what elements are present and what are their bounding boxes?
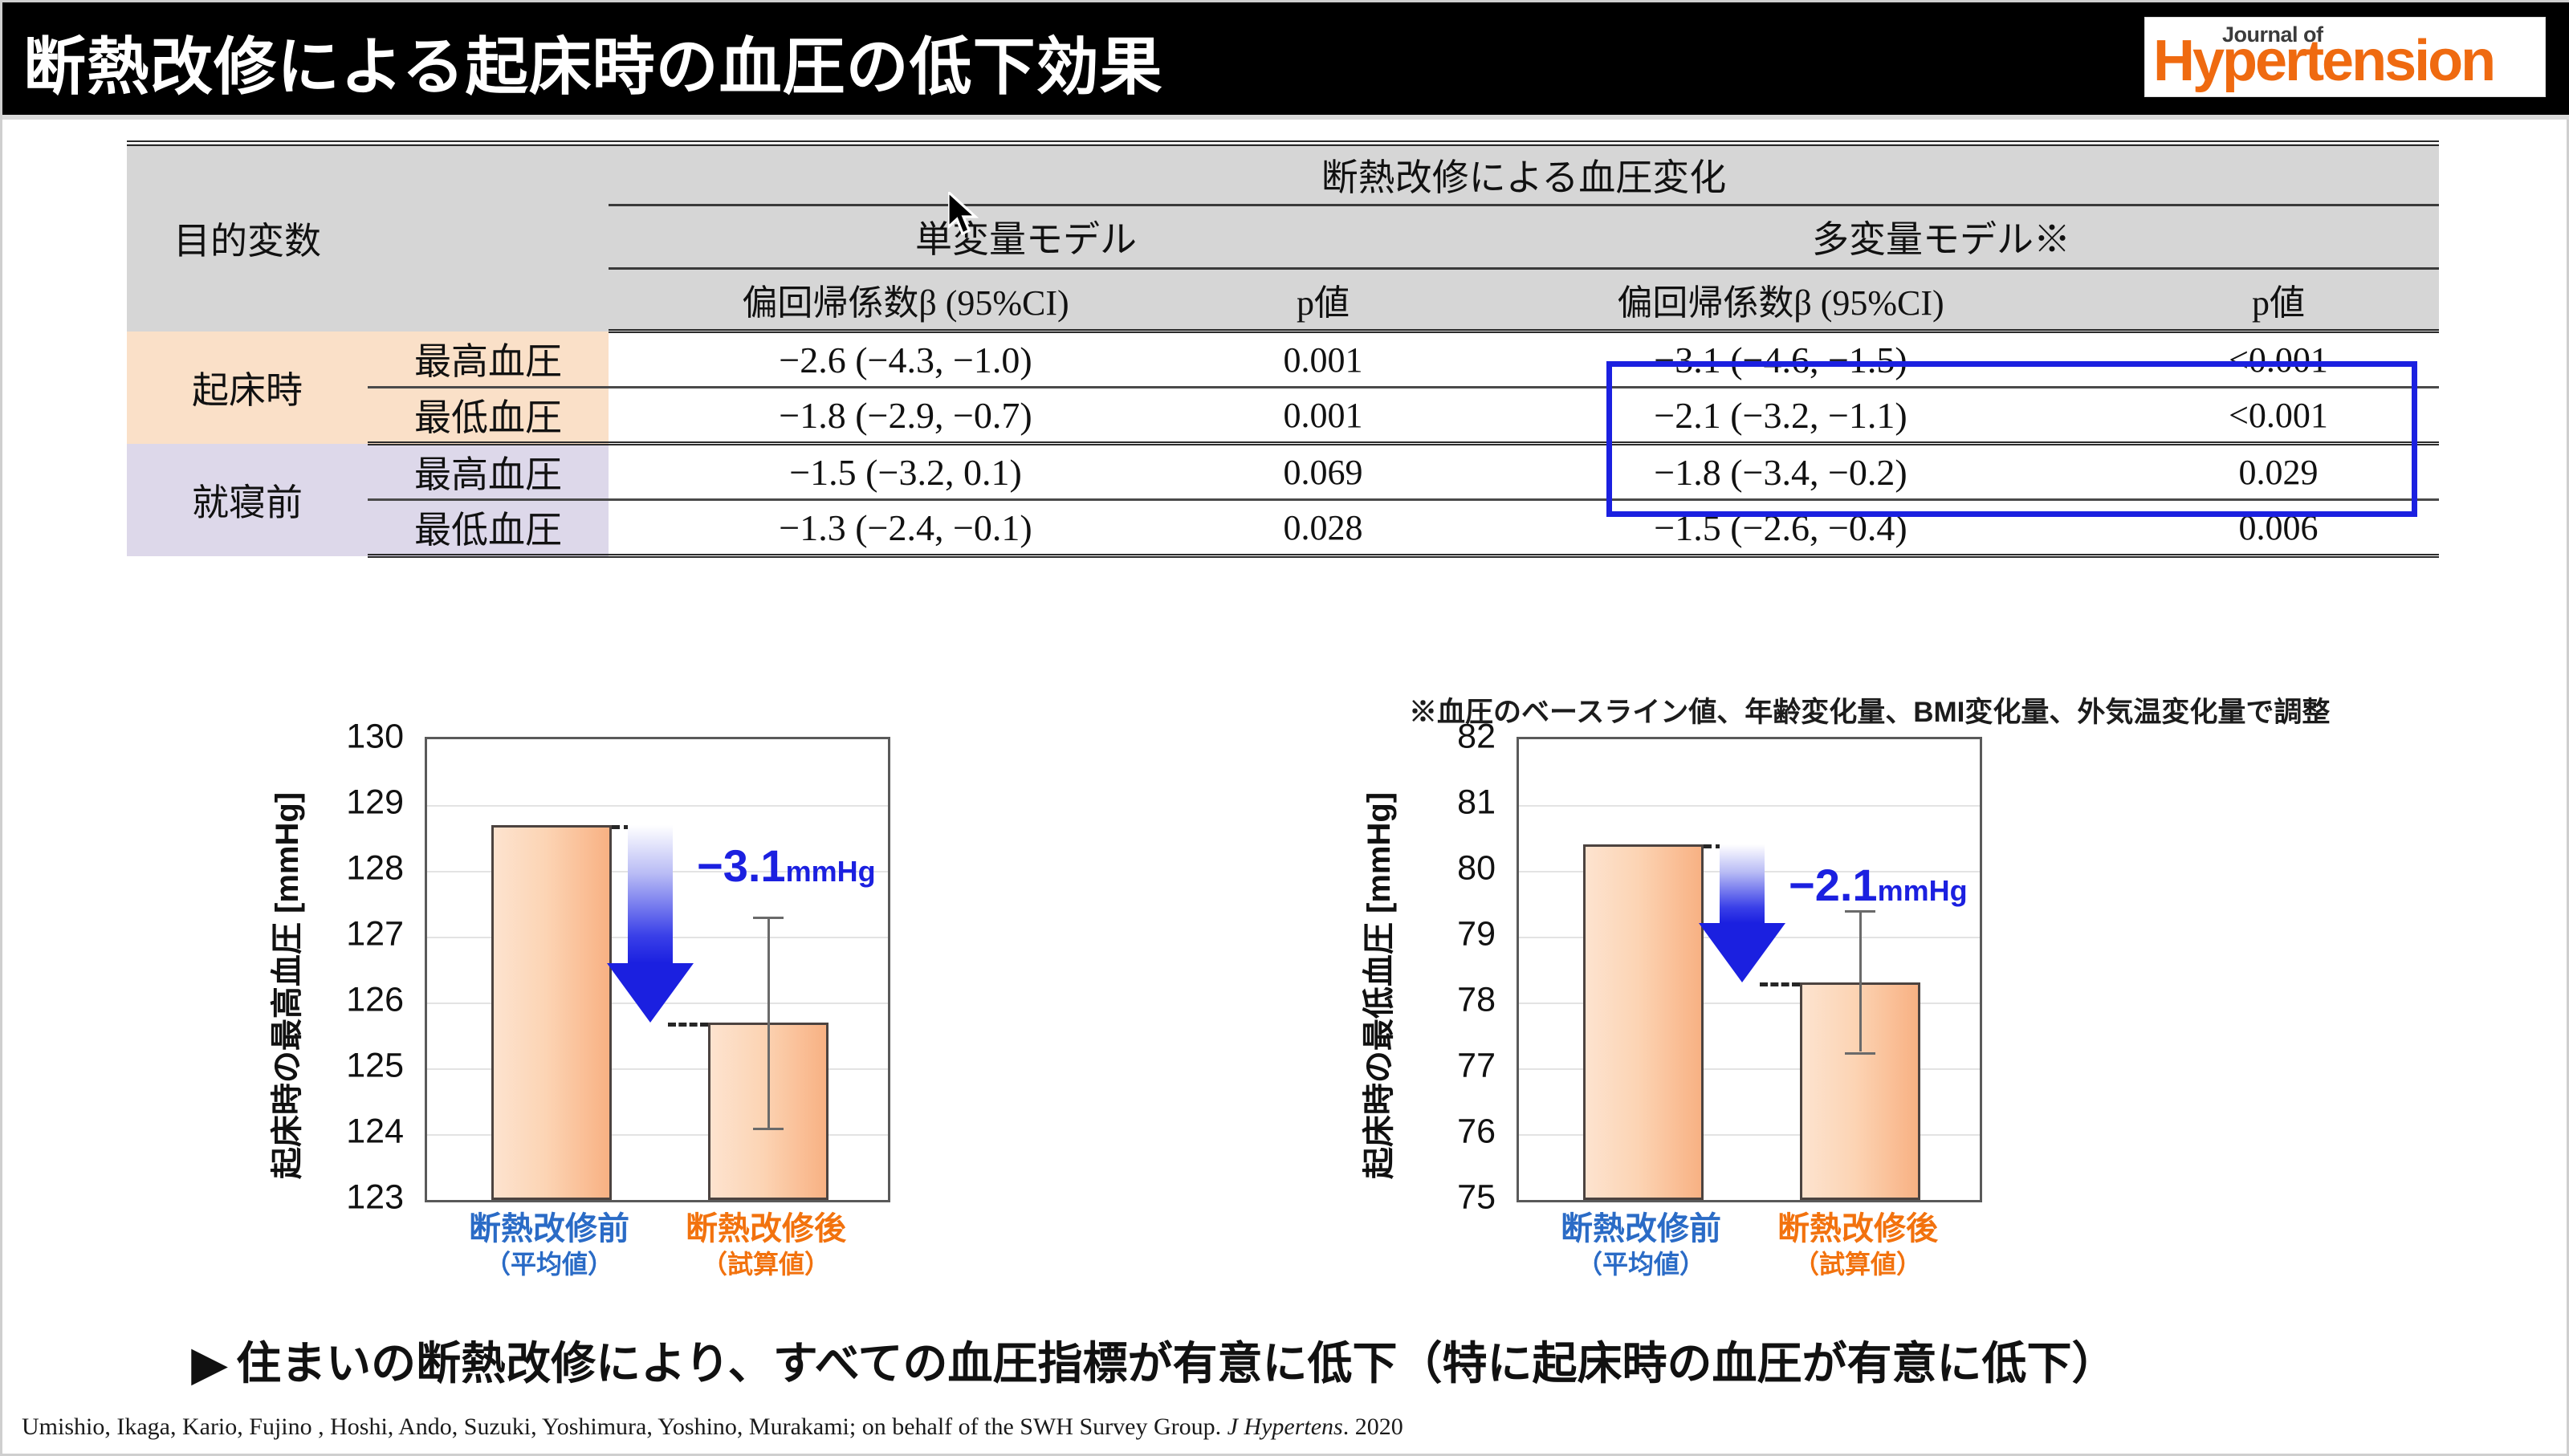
- table-cell-uni-p: 0.001: [1203, 331, 1443, 388]
- table-footnote: ※血圧のベースライン値、年齢変化量、BMI変化量、外気温変化量で調整: [1409, 689, 2330, 730]
- table-col-variable-header: 目的変数: [127, 144, 368, 331]
- chart-systolic-errorbar-cap: [753, 917, 784, 919]
- citation-authors: Umishio, Ikaga, Kario, Fujino , Hoshi, A…: [22, 1413, 1221, 1440]
- chart-diastolic-ylabel: 起床時の最低血圧 [mmHg]: [1353, 761, 1399, 1210]
- chart-diastolic-errorbar-cap: [1845, 1052, 1875, 1055]
- table-cell-uni-coef: −1.5 (−3.2, 0.1): [609, 444, 1203, 500]
- table-cell-multi-p: 0.029: [2118, 444, 2439, 500]
- chart-systolic-ytick: 127: [346, 915, 404, 954]
- table-cell-multi-p: <0.001: [2118, 331, 2439, 388]
- chart-systolic-xaxis: 断熱改修前 （平均値） 断熱改修後 （試算値）: [425, 1210, 890, 1291]
- table-cell-uni-p: 0.001: [1203, 388, 1443, 444]
- arrow-head: [607, 963, 694, 1023]
- chart-diastolic-ytick: 80: [1457, 849, 1496, 889]
- chart-systolic-ylabel: 起床時の最高血圧 [mmHg]: [261, 761, 307, 1210]
- table-subrow-label: 最低血圧: [368, 500, 609, 556]
- arrow-shaft: [628, 825, 673, 963]
- table-subrow-label: 最高血圧: [368, 444, 609, 500]
- chart-diastolic-plot: −2.1mmHg: [1517, 737, 1982, 1202]
- table-row: 最低血圧 −1.3 (−2.4, −0.1) 0.028 −1.5 (−2.6,…: [127, 500, 2439, 556]
- table-cell-uni-coef: −1.3 (−2.4, −0.1): [609, 500, 1203, 556]
- citation-journal: J Hypertens: [1228, 1413, 1343, 1440]
- citation: Umishio, Ikaga, Kario, Fujino , Hoshi, A…: [22, 1413, 1403, 1441]
- delta-unit: mmHg: [786, 855, 876, 888]
- chart-systolic-ytick: 126: [346, 981, 404, 1020]
- table-cell-multi-coef: −1.5 (−2.6, −0.4): [1443, 500, 2118, 556]
- table-cell-multi-coef: −1.8 (−3.4, −0.2): [1443, 444, 2118, 500]
- chart-diastolic-ytick: 77: [1457, 1047, 1496, 1086]
- chart-diastolic-xlabel-after: 断熱改修後 （試算値）: [1737, 1210, 1978, 1281]
- chart-systolic-xlabel-after: 断熱改修後 （試算値）: [645, 1210, 886, 1281]
- chart-systolic-bar: [491, 825, 612, 1200]
- results-table: 目的変数 断熱改修による血圧変化 単変量モデル 多変量モデル※ 偏回帰係数β (…: [127, 140, 2439, 558]
- chart-systolic-xlabel-before: 断熱改修前 （平均値）: [429, 1210, 670, 1281]
- title-underline: [2, 115, 2569, 120]
- chart-systolic-plot: −3.1mmHg: [425, 737, 890, 1202]
- table-p-header-uni: p値: [1203, 269, 1443, 331]
- table-supergroup-header: 断熱改修による血圧変化: [609, 144, 2439, 205]
- chart-diastolic-dashed-after: [1760, 982, 1800, 986]
- table-cell-uni-p: 0.028: [1203, 500, 1443, 556]
- slide-canvas: 断熱改修による起床時の血圧の低下効果 Journal of Hypertensi…: [0, 0, 2569, 1456]
- summary-text: 住まいの断熱改修により、すべての血圧指標が有意に低下（特に起床時の血圧が有意に低…: [236, 1338, 2116, 1389]
- logo-hypertension-text: Hypertension: [2153, 29, 2494, 93]
- chart-systolic-decrease-arrow-icon: [628, 825, 673, 1023]
- journal-logo: Journal of Hypertension: [2144, 17, 2546, 97]
- chart-diastolic-yaxis: 7576777879808182: [1407, 729, 1502, 1210]
- chart-systolic-ytick: 125: [346, 1047, 404, 1086]
- chart-diastolic-ytick: 78: [1457, 981, 1496, 1020]
- arrow-head: [1699, 923, 1785, 982]
- table-col-variable-spacer: [368, 144, 609, 331]
- chart-diastolic-decrease-arrow-icon: [1720, 844, 1765, 982]
- table-coef-header-uni: 偏回帰係数β (95%CI): [609, 269, 1203, 331]
- table-header-row-1: 目的変数 断熱改修による血圧変化: [127, 144, 2439, 205]
- chart-diastolic-errorbar: [1859, 910, 1862, 1051]
- table-row: 起床時 最高血圧 −2.6 (−4.3, −1.0) 0.001 −3.1 (−…: [127, 331, 2439, 388]
- chart-systolic-delta-annotation: −3.1mmHg: [697, 840, 876, 892]
- table-row: 最低血圧 −1.8 (−2.9, −0.7) 0.001 −2.1 (−3.2,…: [127, 388, 2439, 444]
- chart-diastolic-ytick: 79: [1457, 915, 1496, 954]
- chart-diastolic-bar: [1583, 844, 1704, 1200]
- chart-systolic-ytick: 129: [346, 783, 404, 823]
- bullet-triangle-icon: ▶: [192, 1337, 226, 1390]
- chart-diastolic-ytick: 82: [1457, 718, 1496, 757]
- chart-diastolic-xlabel-before: 断熱改修前 （平均値）: [1521, 1210, 1761, 1281]
- table-subrow-label: 最高血圧: [368, 331, 609, 388]
- chart-systolic-errorbar: [767, 917, 770, 1127]
- table-cell-multi-coef: −3.1 (−4.6, −1.5): [1443, 331, 2118, 388]
- delta-value: −3.1: [697, 840, 786, 891]
- arrow-shaft: [1720, 844, 1765, 923]
- table-coef-header-multi: 偏回帰係数β (95%CI): [1443, 269, 2118, 331]
- table-group-label-wake: 起床時: [127, 331, 368, 444]
- title-bar: 断熱改修による起床時の血圧の低下効果 Journal of Hypertensi…: [2, 2, 2569, 115]
- chart-systolic-yaxis: 123124125126127128129130: [316, 729, 410, 1210]
- chart-systolic-ytick: 123: [346, 1178, 404, 1218]
- page-title: 断熱改修による起床時の血圧の低下効果: [23, 17, 1163, 107]
- chart-diastolic-gridline: [1519, 805, 1980, 807]
- table-cell-multi-p: <0.001: [2118, 388, 2439, 444]
- table-cell-uni-p: 0.069: [1203, 444, 1443, 500]
- table-subrow-label: 最低血圧: [368, 388, 609, 444]
- table-model-univariate-header: 単変量モデル: [609, 205, 1443, 269]
- chart-systolic-gridline: [427, 805, 888, 807]
- chart-systolic-ytick: 128: [346, 849, 404, 889]
- table-group-label-bed: 就寝前: [127, 444, 368, 556]
- chart-systolic-dashed-after: [668, 1023, 708, 1027]
- delta-value: −2.1: [1789, 860, 1878, 910]
- table-cell-multi-p: 0.006: [2118, 500, 2439, 556]
- table-cell-uni-coef: −2.6 (−4.3, −1.0): [609, 331, 1203, 388]
- chart-diastolic-delta-annotation: −2.1mmHg: [1789, 859, 1968, 911]
- table-row: 就寝前 最高血圧 −1.5 (−3.2, 0.1) 0.069 −1.8 (−3…: [127, 444, 2439, 500]
- chart-diastolic-ytick: 81: [1457, 783, 1496, 823]
- table-model-multivariate-header: 多変量モデル※: [1443, 205, 2439, 269]
- chart-diastolic-xaxis: 断熱改修前 （平均値） 断熱改修後 （試算値）: [1517, 1210, 1982, 1291]
- table-cell-multi-coef: −2.1 (−3.2, −1.1): [1443, 388, 2118, 444]
- chart-systolic: 起床時の最高血圧 [mmHg] 123124125126127128129130…: [267, 729, 1175, 1291]
- delta-unit: mmHg: [1878, 874, 1968, 907]
- chart-diastolic: 起床時の最低血圧 [mmHg] 7576777879808182 −2.1mmH…: [1359, 729, 2266, 1291]
- chart-systolic-errorbar-cap: [753, 1128, 784, 1130]
- table-p-header-multi: p値: [2118, 269, 2439, 331]
- citation-year: . 2020: [1343, 1413, 1403, 1440]
- chart-systolic-ytick: 130: [346, 718, 404, 757]
- summary-line: ▶住まいの断熱改修により、すべての血圧指標が有意に低下（特に起床時の血圧が有意に…: [192, 1328, 2117, 1393]
- chart-systolic-ytick: 124: [346, 1112, 404, 1152]
- table-cell-uni-coef: −1.8 (−2.9, −0.7): [609, 388, 1203, 444]
- chart-diastolic-ytick: 75: [1457, 1178, 1496, 1218]
- chart-diastolic-ytick: 76: [1457, 1112, 1496, 1152]
